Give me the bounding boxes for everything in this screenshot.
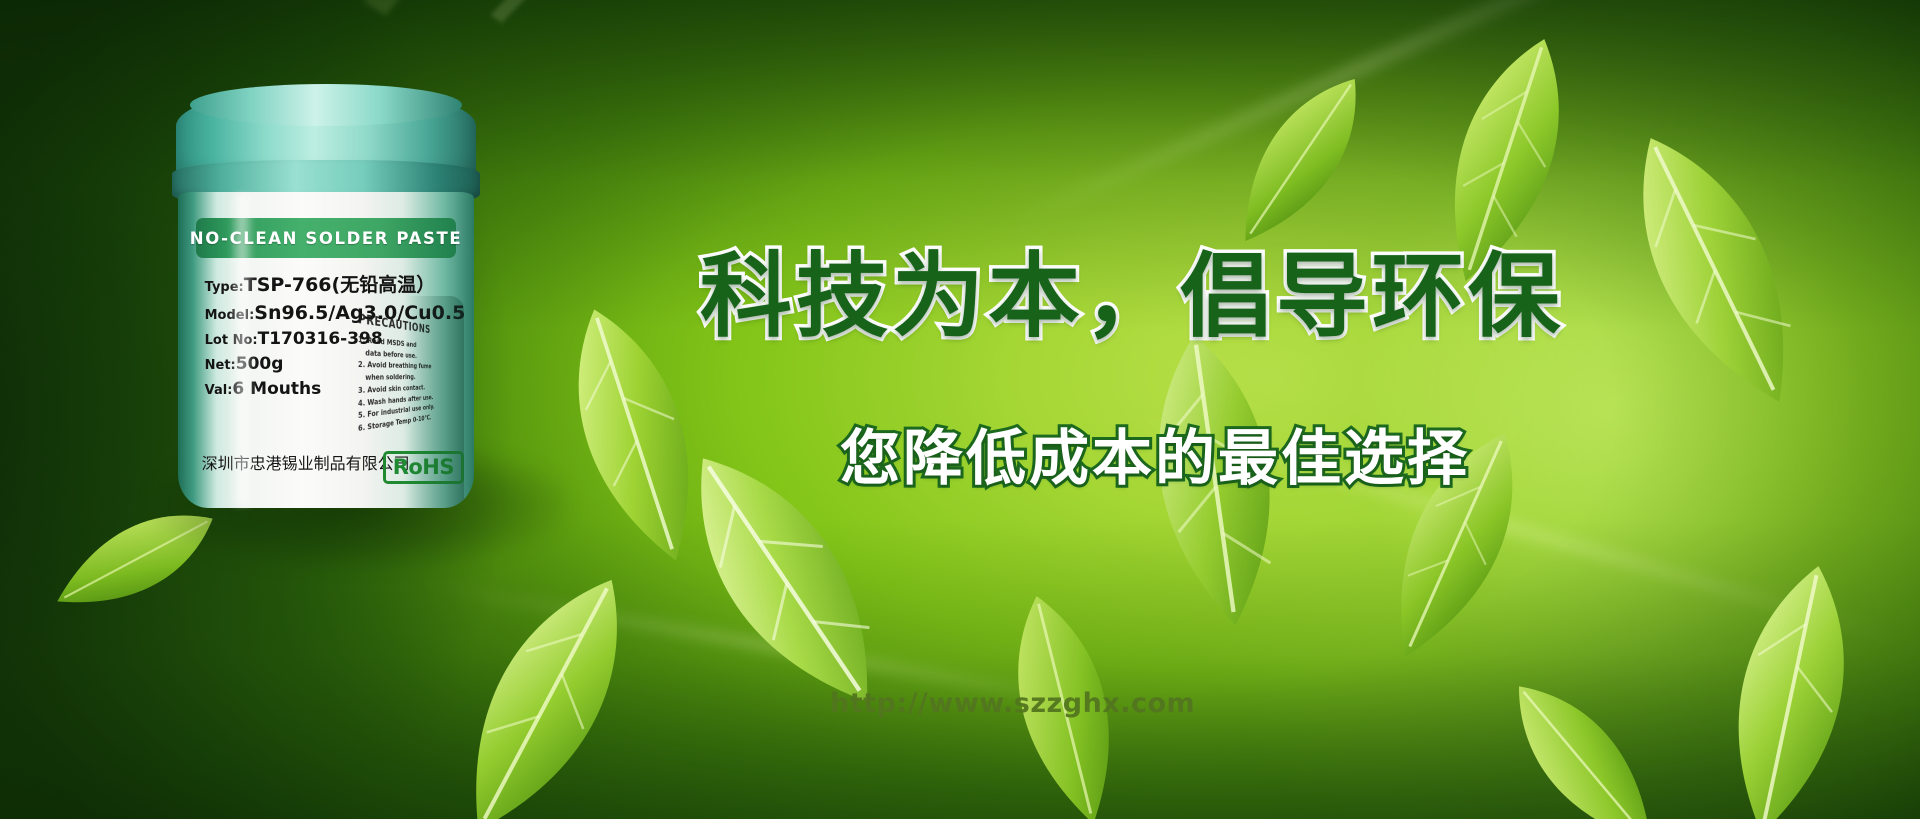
precautions-item-number: 3.: [358, 385, 365, 395]
promo-banner: NO-CLEAN SOLDER PASTE Type:TSP-766(无铅高温）…: [0, 0, 1920, 819]
jar-right-shading: [406, 296, 464, 508]
page-title: 科技为本，倡导环保: [700, 222, 1564, 355]
page-subtitle: 您降低成本的最佳选择: [840, 410, 1470, 497]
solder-paste-jar: NO-CLEAN SOLDER PASTE Type:TSP-766(无铅高温）…: [168, 88, 508, 508]
precautions-item-number: 2.: [358, 359, 365, 369]
label-row-type-value: TSP-766(无铅高温）: [244, 274, 435, 296]
jar-lid-top: [190, 84, 462, 126]
jar-highlight: [229, 194, 255, 506]
precautions-item-number: 6.: [358, 422, 365, 433]
website-url: http://www.szzghx.com: [830, 688, 1195, 719]
precautions-item-number: 1.: [358, 334, 365, 345]
precautions-item-number: 4.: [358, 397, 365, 407]
jar-body-label: NO-CLEAN SOLDER PASTE Type:TSP-766(无铅高温）…: [178, 192, 474, 508]
precautions-item-number: 5.: [358, 409, 365, 420]
